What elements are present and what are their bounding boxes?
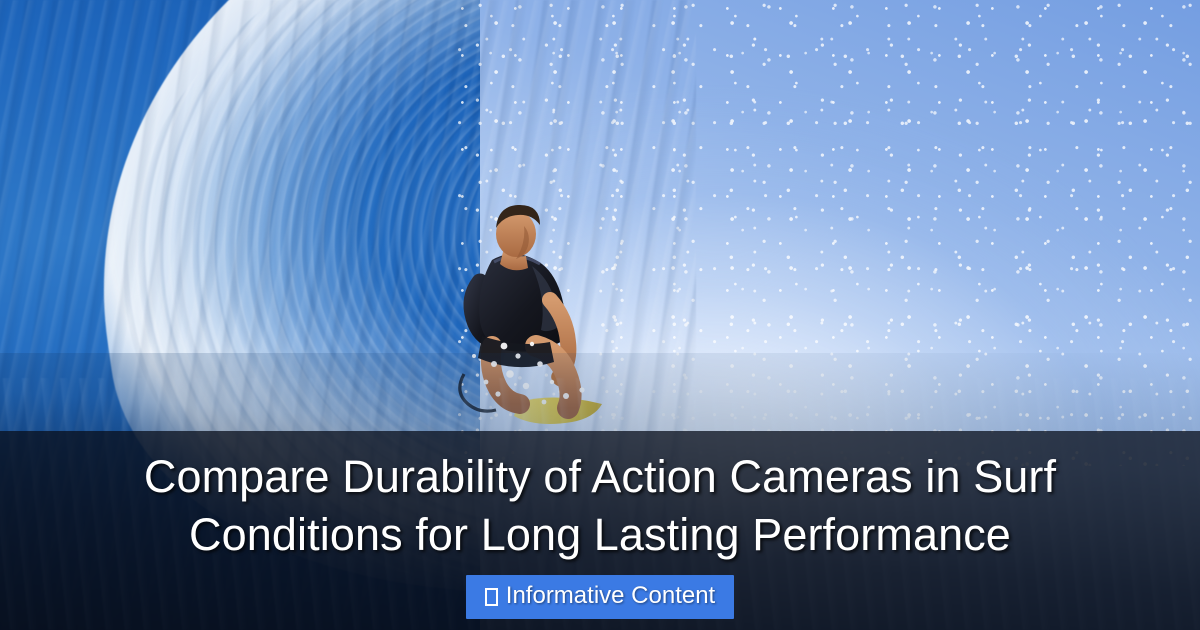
missing-glyph-box-icon bbox=[485, 588, 498, 606]
caption-block: Compare Durability of Action Cameras in … bbox=[0, 431, 1200, 630]
status-badge-label: Informative Content bbox=[506, 584, 715, 608]
page-title: Compare Durability of Action Cameras in … bbox=[60, 448, 1140, 564]
share-preview-card: Compare Durability of Action Cameras in … bbox=[0, 0, 1200, 630]
headline-line-1: Compare Durability of Action Cameras in … bbox=[144, 451, 1056, 502]
status-badge[interactable]: Informative Content bbox=[466, 575, 734, 619]
headline-line-2: Conditions for Long Lasting Performance bbox=[189, 509, 1011, 560]
